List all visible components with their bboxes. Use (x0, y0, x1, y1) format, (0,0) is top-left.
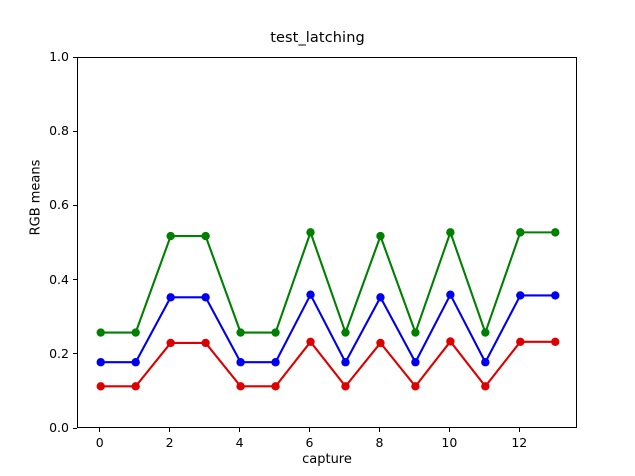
series-b (97, 291, 560, 367)
series-g (97, 228, 560, 337)
data-point (376, 339, 384, 347)
data-point (306, 228, 314, 236)
data-point (306, 291, 314, 299)
data-point (97, 328, 105, 336)
y-tick-label: 0.0 (25, 420, 69, 435)
series-line (101, 232, 556, 332)
x-axis-label: capture (77, 452, 577, 467)
data-point (131, 382, 139, 390)
data-point (306, 338, 314, 346)
data-point (376, 293, 384, 301)
data-point (341, 328, 349, 336)
data-point (271, 382, 279, 390)
data-point (446, 228, 454, 236)
data-point (551, 291, 559, 299)
y-tick-label: 0.4 (25, 272, 69, 287)
data-point (97, 358, 105, 366)
data-point (236, 358, 244, 366)
data-point (516, 291, 524, 299)
data-point (481, 382, 489, 390)
data-point (201, 293, 209, 301)
data-point (376, 232, 384, 240)
data-point (446, 337, 454, 345)
data-point (166, 339, 174, 347)
data-point (131, 358, 139, 366)
data-point (516, 338, 524, 346)
data-point (236, 328, 244, 336)
data-point (551, 338, 559, 346)
data-point (271, 358, 279, 366)
chart-lines-svg (78, 58, 578, 429)
data-point (166, 232, 174, 240)
x-tick-label: 8 (375, 435, 383, 450)
x-tick-label: 6 (306, 435, 314, 450)
data-point (236, 382, 244, 390)
data-point (166, 293, 174, 301)
data-point (341, 358, 349, 366)
data-point (551, 228, 559, 236)
x-tick-label: 0 (96, 435, 104, 450)
y-tick-label: 1.0 (25, 49, 69, 64)
data-point (481, 328, 489, 336)
y-tick-label: 0.6 (25, 197, 69, 212)
chart-title: test_latching (0, 30, 635, 46)
x-tick-label: 2 (166, 435, 174, 450)
data-point (446, 291, 454, 299)
data-series-layer (97, 228, 560, 390)
data-point (516, 228, 524, 236)
data-point (411, 358, 419, 366)
data-point (271, 328, 279, 336)
data-point (341, 382, 349, 390)
series-r (97, 337, 560, 390)
y-tick-label: 0.8 (25, 123, 69, 138)
x-tick-label: 4 (236, 435, 244, 450)
x-tick-label: 12 (511, 435, 527, 450)
data-point (201, 339, 209, 347)
data-point (201, 232, 209, 240)
data-point (131, 328, 139, 336)
data-point (411, 328, 419, 336)
data-point (411, 382, 419, 390)
y-tick-label: 0.2 (25, 346, 69, 361)
matplotlib-figure: test_latching RGB means 0.00.20.40.60.81… (0, 0, 635, 476)
x-tick-label: 10 (441, 435, 457, 450)
plot-area (77, 57, 577, 428)
data-point (97, 382, 105, 390)
data-point (481, 358, 489, 366)
